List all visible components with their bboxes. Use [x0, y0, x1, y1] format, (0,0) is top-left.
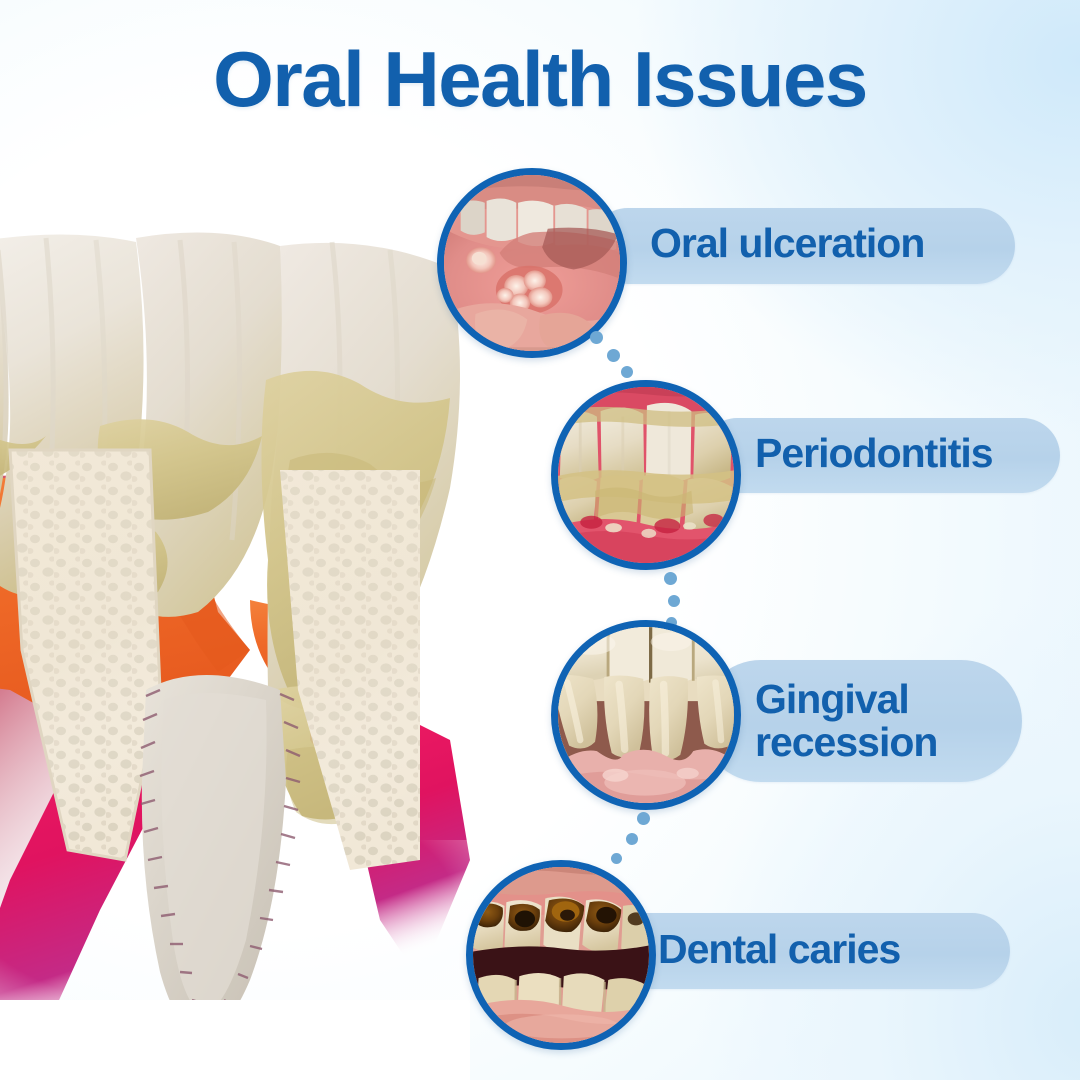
- dental-caries-photo[interactable]: [466, 860, 656, 1050]
- oral-ulceration-photo[interactable]: [437, 168, 627, 358]
- periodontitis-photo[interactable]: [551, 380, 741, 570]
- label-text-dental-caries: Dental caries: [658, 928, 1008, 971]
- tooth-illustration: [0, 220, 470, 1080]
- gingival-recession-photo[interactable]: [551, 620, 741, 810]
- label-text-oral-ulceration: Oral ulceration: [650, 222, 1010, 265]
- label-text-gingival-recession: Gingival recession: [755, 678, 1035, 763]
- page-title: Oral Health Issues: [0, 34, 1080, 125]
- label-text-periodontitis: Periodontitis: [755, 432, 1075, 475]
- infographic-canvas: Oral Health Issues: [0, 0, 1080, 1080]
